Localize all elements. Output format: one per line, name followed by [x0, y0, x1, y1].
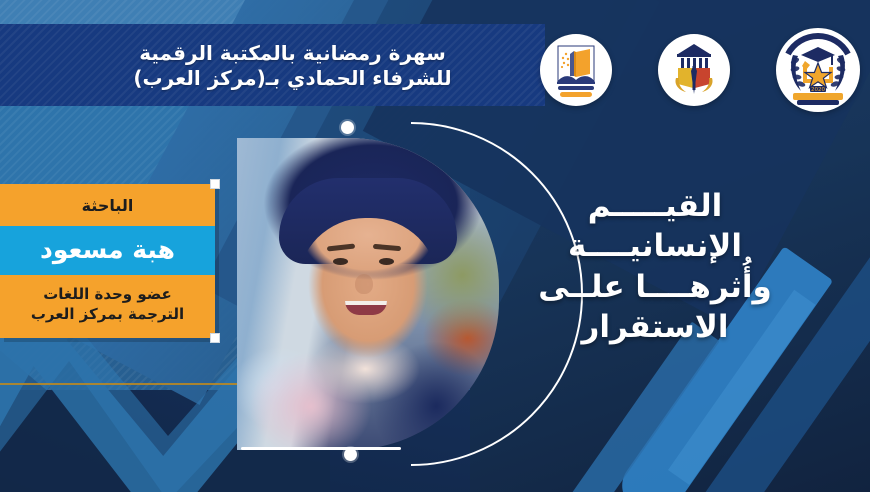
speaker-name: هبة مسعود	[0, 226, 215, 275]
star-laurel-badge-icon: 2020	[779, 31, 857, 109]
event-title-line-2: للشرفاء الحمادي بـ(مركز العرب)	[133, 66, 451, 91]
speaker-affiliation-line-2: الترجمة بمركز العرب	[12, 305, 203, 325]
awareness-logo[interactable]	[658, 34, 730, 106]
speaker-affiliation: عضو وحدة اللغات الترجمة بمركز العرب	[0, 275, 215, 338]
card-corner-marker-bottom	[210, 333, 220, 343]
event-title-line-1: سهرة رمضانية بالمكتبة الرقمية	[139, 41, 446, 66]
speaker-affiliation-line-1: عضو وحدة اللغات	[12, 285, 203, 305]
headline-line-4: الاستقرار	[520, 307, 790, 347]
poster-headline: القيـــــم الإنسانيــــة وأُثرهــــا علـ…	[520, 186, 790, 347]
speaker-card: الباحثة هبة مسعود عضو وحدة اللغات الترجم…	[0, 184, 215, 338]
headline-line-1: القيـــــم	[520, 186, 790, 226]
svg-text:2020: 2020	[811, 87, 825, 93]
photo-eye-right	[379, 258, 394, 265]
poster-canvas: سهرة رمضانية بالمكتبة الرقمية للشرفاء ال…	[0, 0, 870, 492]
photo-baseline-rule	[241, 447, 401, 450]
digital-library-logo[interactable]	[540, 34, 612, 106]
photo-nose	[355, 274, 373, 294]
logo-row: 2020	[540, 22, 860, 118]
card-corner-marker-top	[210, 179, 220, 189]
decorative-dot-bottom	[344, 448, 357, 461]
headline-line-3: وأُثرهــــا علــى	[520, 267, 790, 307]
speaker-role-label: الباحثة	[0, 184, 215, 226]
temple-book-pen-logo-icon	[662, 38, 726, 102]
headline-line-2: الإنسانيــــة	[520, 226, 790, 266]
arab-center-logo[interactable]: 2020	[776, 28, 860, 112]
photo-eye-left	[333, 258, 348, 265]
event-title: سهرة رمضانية بالمكتبة الرقمية للشرفاء ال…	[0, 26, 545, 106]
decorative-dot-top	[341, 121, 354, 134]
book-logo-icon	[544, 38, 608, 102]
